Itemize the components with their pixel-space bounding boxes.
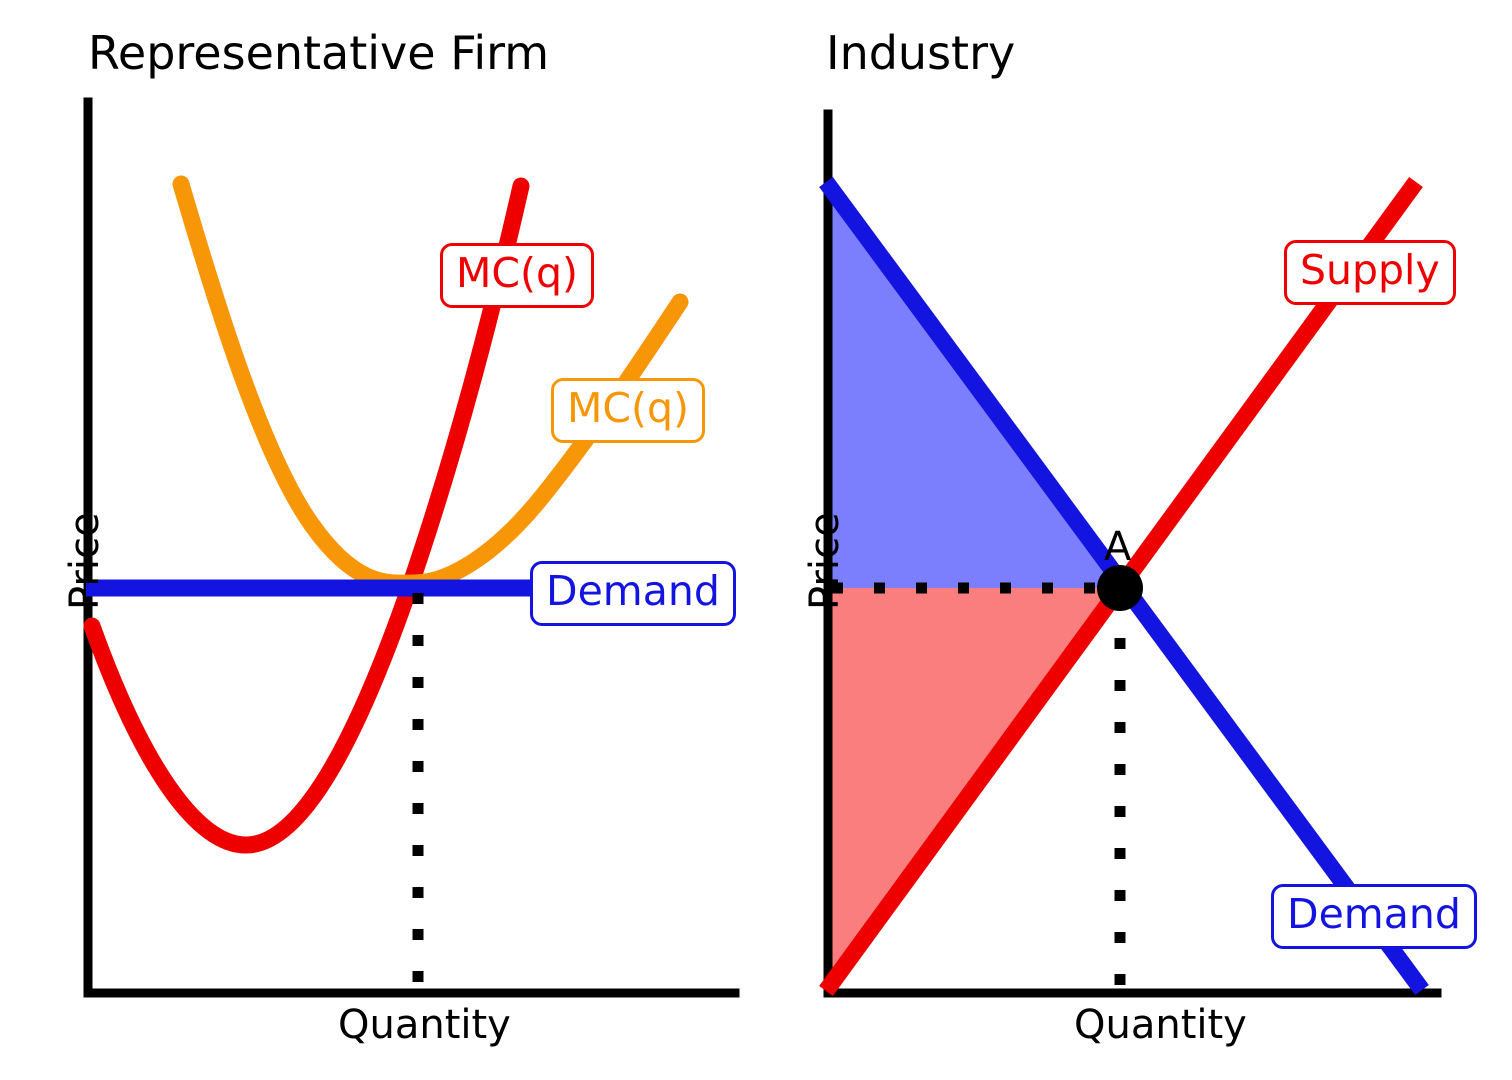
figure-canvas: Representative Firm Industry Quantity Pr… [0, 0, 1512, 1080]
curve-label-demand-left: Demand [530, 561, 736, 626]
left-axes [88, 102, 735, 993]
right-x-axis-label: Quantity [1074, 1002, 1247, 1048]
right-panel-title: Industry [826, 26, 1015, 80]
right-y-axis-label: Price [802, 512, 848, 610]
equilibrium-point-label: A [1104, 524, 1131, 570]
curve-label-demand-right: Demand [1271, 884, 1477, 949]
left-y-axis-label: Price [62, 512, 108, 610]
curve-label-mc-orange: MC(q) [551, 378, 705, 443]
curve-label-mc-red: MC(q) [440, 243, 594, 308]
left-x-axis-label: Quantity [338, 1002, 511, 1048]
left-panel-group [86, 102, 735, 993]
equilibrium-marker-dot [1097, 565, 1143, 611]
curve-label-supply: Supply [1284, 240, 1456, 305]
left-panel-title: Representative Firm [88, 26, 549, 80]
